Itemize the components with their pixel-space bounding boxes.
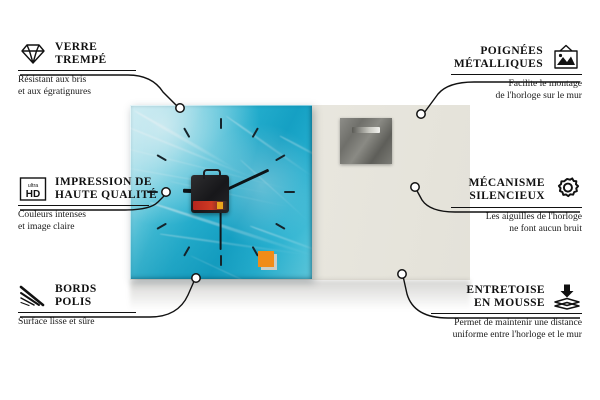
callout-rule: [451, 74, 582, 75]
product-infographic: VERRE TREMPÉ Résistant aux bris et aux é…: [0, 0, 600, 400]
foam-spacer: [258, 251, 274, 267]
callout-header: MÉCANISME SILENCIEUX: [432, 176, 582, 204]
mechanism-hanger: [203, 169, 221, 179]
callout-title: IMPRESSION DE HAUTE QUALITÉ: [55, 176, 157, 202]
callout-header: ultra HD IMPRESSION DE HAUTE QUALITÉ: [18, 176, 168, 202]
callout-title: ENTRETOISE EN MOUSSE: [466, 284, 545, 310]
callout-header: VERRE TREMPÉ: [18, 41, 158, 67]
callout-rule: [451, 207, 582, 208]
callout-poignees-metalliques: POIGNÉES MÉTALLIQUES Facilite le montage…: [432, 44, 582, 101]
callout-description: Résistant aux bris et aux égratignures: [18, 74, 158, 97]
callout-bords-polis: BORDS POLIS Surface lisse et sûre: [18, 283, 158, 328]
diamond-icon: [18, 42, 48, 66]
callout-header: POIGNÉES MÉTALLIQUES: [432, 44, 582, 71]
polished-edge-icon: [18, 284, 48, 308]
callout-title: POIGNÉES MÉTALLIQUES: [454, 45, 543, 71]
product-scene: [130, 105, 470, 280]
callout-description: Surface lisse et sûre: [18, 316, 158, 327]
ultra-hd-icon: ultra HD: [18, 176, 48, 202]
gear-icon: [552, 176, 582, 204]
callout-description: Les aiguilles de l'horloge ne font aucun…: [432, 211, 582, 234]
metal-hanging-bracket: [340, 118, 392, 164]
callout-impression-hd: ultra HD IMPRESSION DE HAUTE QUALITÉ Cou…: [18, 176, 168, 232]
callout-header: BORDS POLIS: [18, 283, 158, 309]
mechanism-battery: [193, 201, 227, 210]
callout-title: MÉCANISME SILENCIEUX: [469, 177, 545, 203]
callout-title: VERRE TREMPÉ: [55, 41, 107, 67]
foam-spacer-icon: [552, 283, 582, 310]
callout-rule: [18, 205, 149, 206]
callout-rule: [431, 313, 582, 314]
callout-rule: [18, 70, 136, 71]
ultra-hd-main-label: HD: [26, 189, 40, 200]
bracket-slot: [352, 127, 380, 133]
callout-description: Facilite le montage de l'horloge sur le …: [432, 78, 582, 101]
clock-mechanism: [191, 175, 229, 213]
picture-hanger-icon: [550, 44, 582, 71]
callout-rule: [18, 312, 136, 313]
callout-verre-trempe: VERRE TREMPÉ Résistant aux bris et aux é…: [18, 41, 158, 97]
callout-entretoise-en-mousse: ENTRETOISE EN MOUSSE Permet de maintenir…: [412, 283, 582, 340]
callout-header: ENTRETOISE EN MOUSSE: [412, 283, 582, 310]
callout-title: BORDS POLIS: [55, 283, 97, 309]
callout-mecanisme-silencieux: MÉCANISME SILENCIEUX Les aiguilles de l'…: [432, 176, 582, 234]
callout-description: Permet de maintenir une distance uniform…: [412, 317, 582, 340]
callout-description: Couleurs intenses et image claire: [18, 209, 168, 232]
